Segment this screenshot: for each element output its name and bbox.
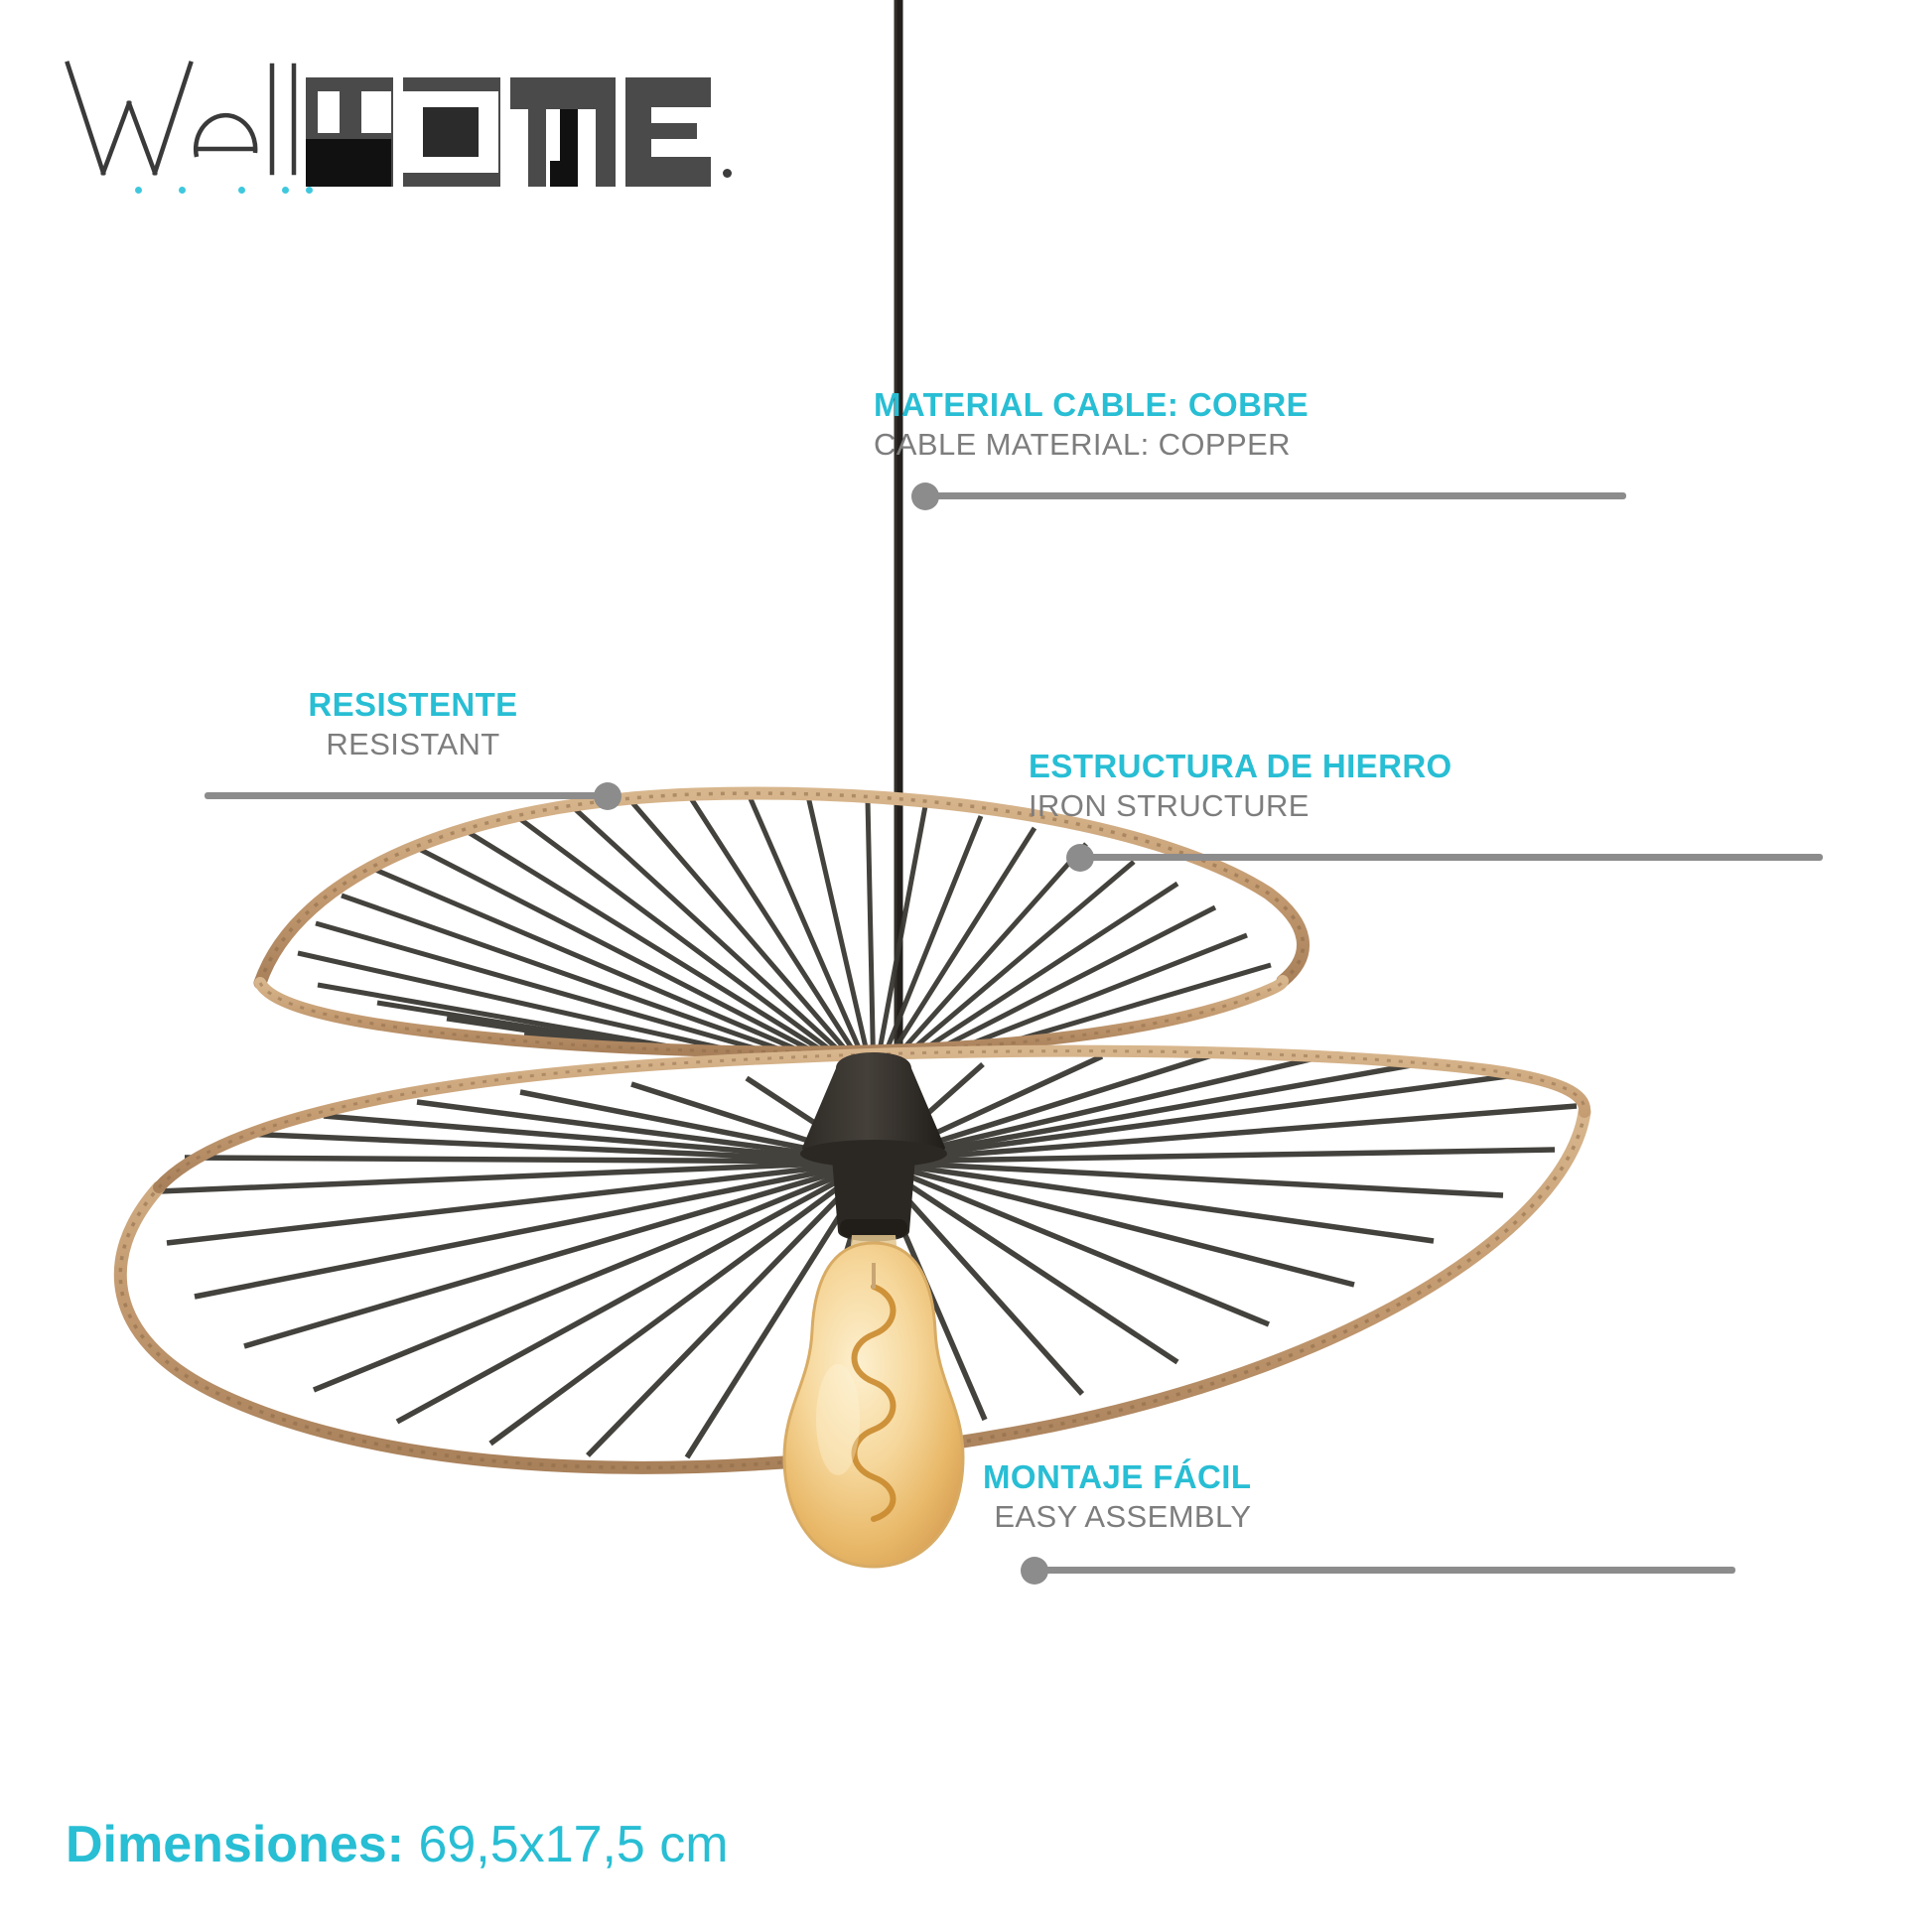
callout-cable-material-rule: [919, 492, 1626, 499]
callout-resistant-rule: [205, 792, 612, 799]
logo-accent-dots: [135, 187, 314, 197]
callout-cable-material: MATERIAL CABLE: COBRE CABLE MATERIAL: CO…: [874, 385, 1309, 464]
dimensions-line: Dimensiones: 69,5x17,5 cm: [66, 1815, 729, 1874]
dimensions-label: Dimensiones:: [66, 1816, 404, 1873]
logo-home-wordmark: [306, 77, 711, 187]
product-photo-pendant-lamp: [0, 0, 1932, 1932]
callout-iron-structure-rule: [1074, 854, 1823, 861]
callout-cable-material-es: MATERIAL CABLE: COBRE: [874, 385, 1309, 425]
callout-resistant-en: RESISTANT: [205, 725, 621, 763]
callout-iron-structure-en: IRON STRUCTURE: [1029, 786, 1452, 825]
callout-resistant-es: RESISTENTE: [205, 685, 621, 725]
callout-easy-assembly-rule: [1029, 1567, 1735, 1574]
brand-logo: [60, 42, 715, 191]
callout-easy-assembly: MONTAJE FÁCIL EASY ASSEMBLY: [983, 1457, 1251, 1536]
lamp-hub: [800, 1052, 947, 1242]
callout-resistant-dot: [594, 782, 621, 810]
infographic-canvas: MATERIAL CABLE: COBRE CABLE MATERIAL: CO…: [0, 0, 1932, 1932]
callout-cable-material-en: CABLE MATERIAL: COPPER: [874, 425, 1309, 464]
callout-iron-structure: ESTRUCTURA DE HIERRO IRON STRUCTURE: [1029, 747, 1452, 825]
callout-iron-structure-es: ESTRUCTURA DE HIERRO: [1029, 747, 1452, 786]
edison-bulb: [784, 1235, 963, 1567]
callout-easy-assembly-es: MONTAJE FÁCIL: [983, 1457, 1251, 1497]
logo-period-dot: [723, 169, 732, 178]
lamp-cord: [896, 0, 898, 1077]
dimensions-value: 69,5x17,5 cm: [418, 1816, 728, 1873]
callout-resistant: RESISTENTE RESISTANT: [205, 685, 621, 763]
lower-wire-disc: [120, 1051, 1585, 1468]
callout-easy-assembly-en: EASY ASSEMBLY: [983, 1497, 1251, 1536]
upper-wire-disc: [260, 793, 1304, 1082]
logo-well-wordmark: [60, 46, 308, 185]
